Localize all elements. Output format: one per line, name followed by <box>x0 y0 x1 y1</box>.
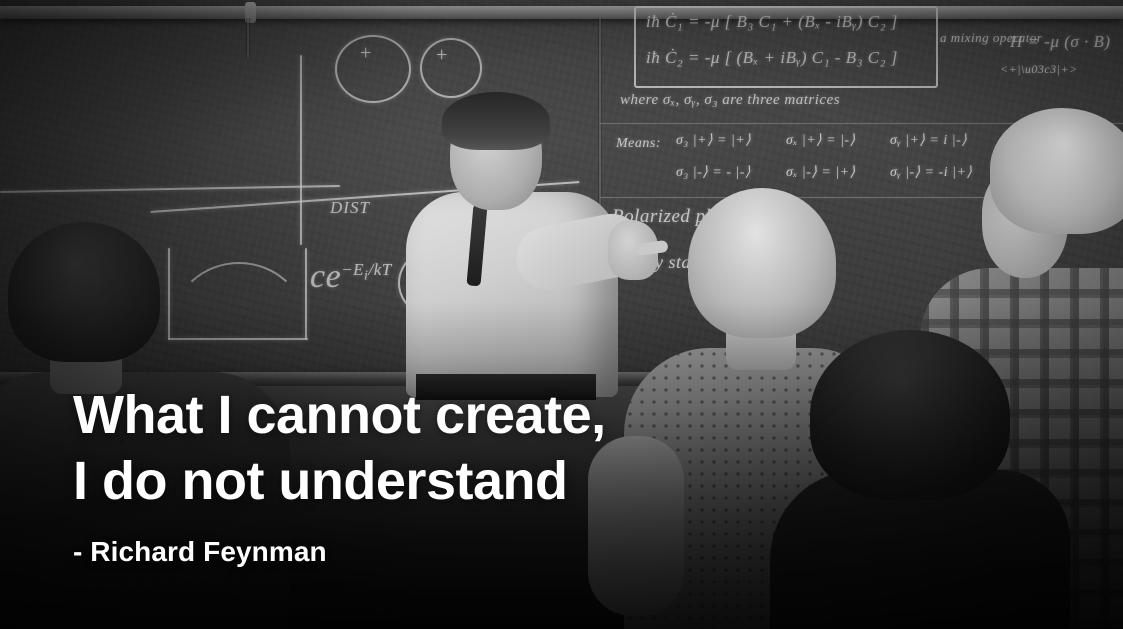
quote-line-1: What I cannot create, <box>73 382 833 448</box>
quote-overlay: What I cannot create, I do not understan… <box>73 382 833 568</box>
quote-card: + + + DIST ce−Ei/kT iħ Ċ₁ = -μ [ B₃ C₁ +… <box>0 0 1123 629</box>
quote-line-2: I do not understand <box>73 448 833 514</box>
quote-attribution: - Richard Feynman <box>73 536 833 568</box>
